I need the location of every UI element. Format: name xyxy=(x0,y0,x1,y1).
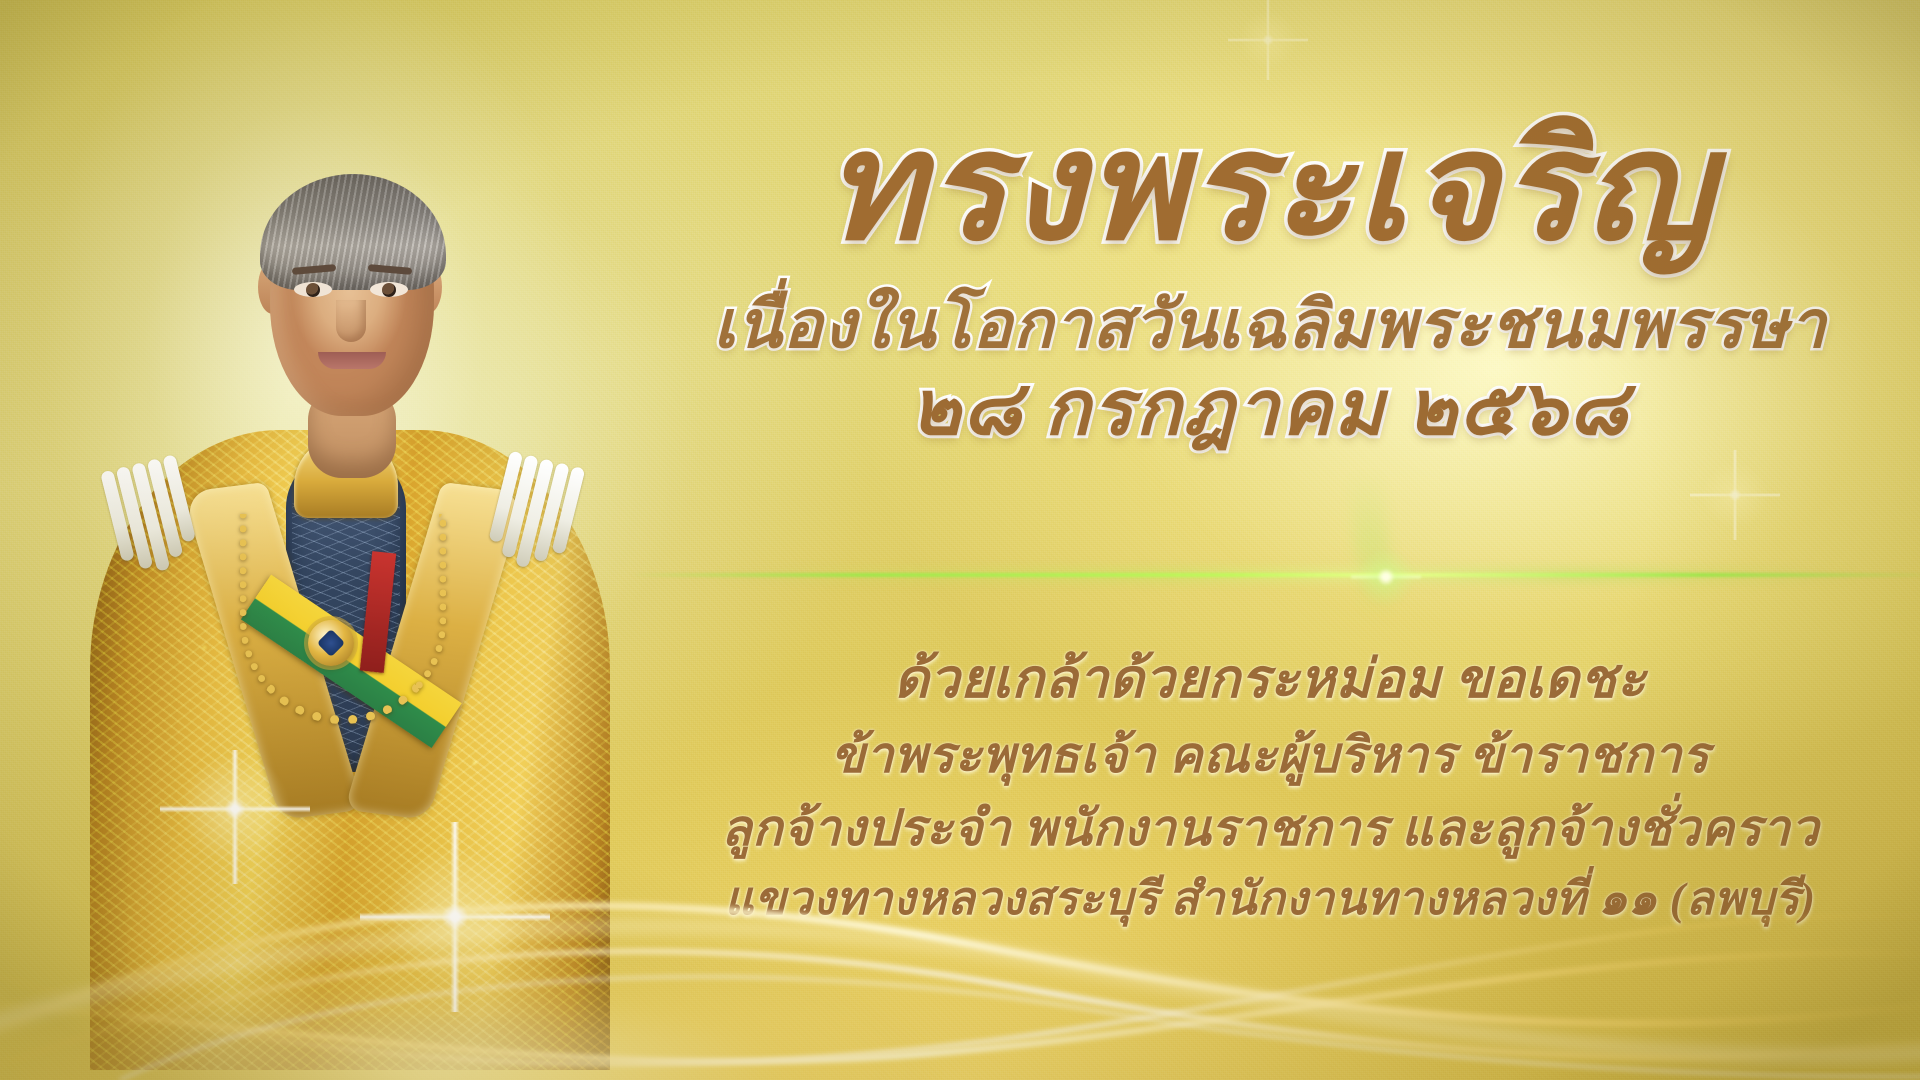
signature-line-1: ด้วยเกล้าด้วยกระหม่อม ขอเดชะ xyxy=(620,640,1920,719)
eye-right xyxy=(370,282,408,297)
headline-blessing: ทรงพระเจริญ xyxy=(620,112,1920,265)
mouth xyxy=(318,352,386,369)
celebration-poster: ทรงพระเจริญ เนื่องในโอกาสวันเฉลิมพระชนมพ… xyxy=(0,0,1920,1080)
green-light-divider xyxy=(630,560,1920,590)
signature-line-3: ลูกจ้างประจำ พนักงานราชการ และลูกจ้างชั่… xyxy=(620,792,1920,865)
message-block: ทรงพระเจริญ เนื่องในโอกาสวันเฉลิมพระชนมพ… xyxy=(620,0,1920,1080)
royal-medal xyxy=(308,620,354,666)
occasion-subtitle: เนื่องในโอกาสวันเฉลิมพระชนมพรรษา xyxy=(620,290,1920,363)
eye-left xyxy=(294,282,332,297)
royal-portrait xyxy=(80,100,640,1060)
signature-line-4: แขวงทางหลวงสระบุรี สำนักงานทางหลวงที่ ๑๑… xyxy=(620,865,1920,932)
event-date: ๒๘ กรกฎาคม ๒๕๖๘ xyxy=(620,368,1920,452)
signature-line-2: ข้าพระพุทธเจ้า คณะผู้บริหาร ข้าราชการ xyxy=(620,719,1920,792)
flare-star-icon xyxy=(1351,542,1421,612)
nose xyxy=(336,300,366,342)
gold-chain xyxy=(240,514,446,724)
hair xyxy=(260,174,446,290)
signature-block: ด้วยเกล้าด้วยกระหม่อม ขอเดชะ ข้าพระพุทธเ… xyxy=(620,640,1920,932)
